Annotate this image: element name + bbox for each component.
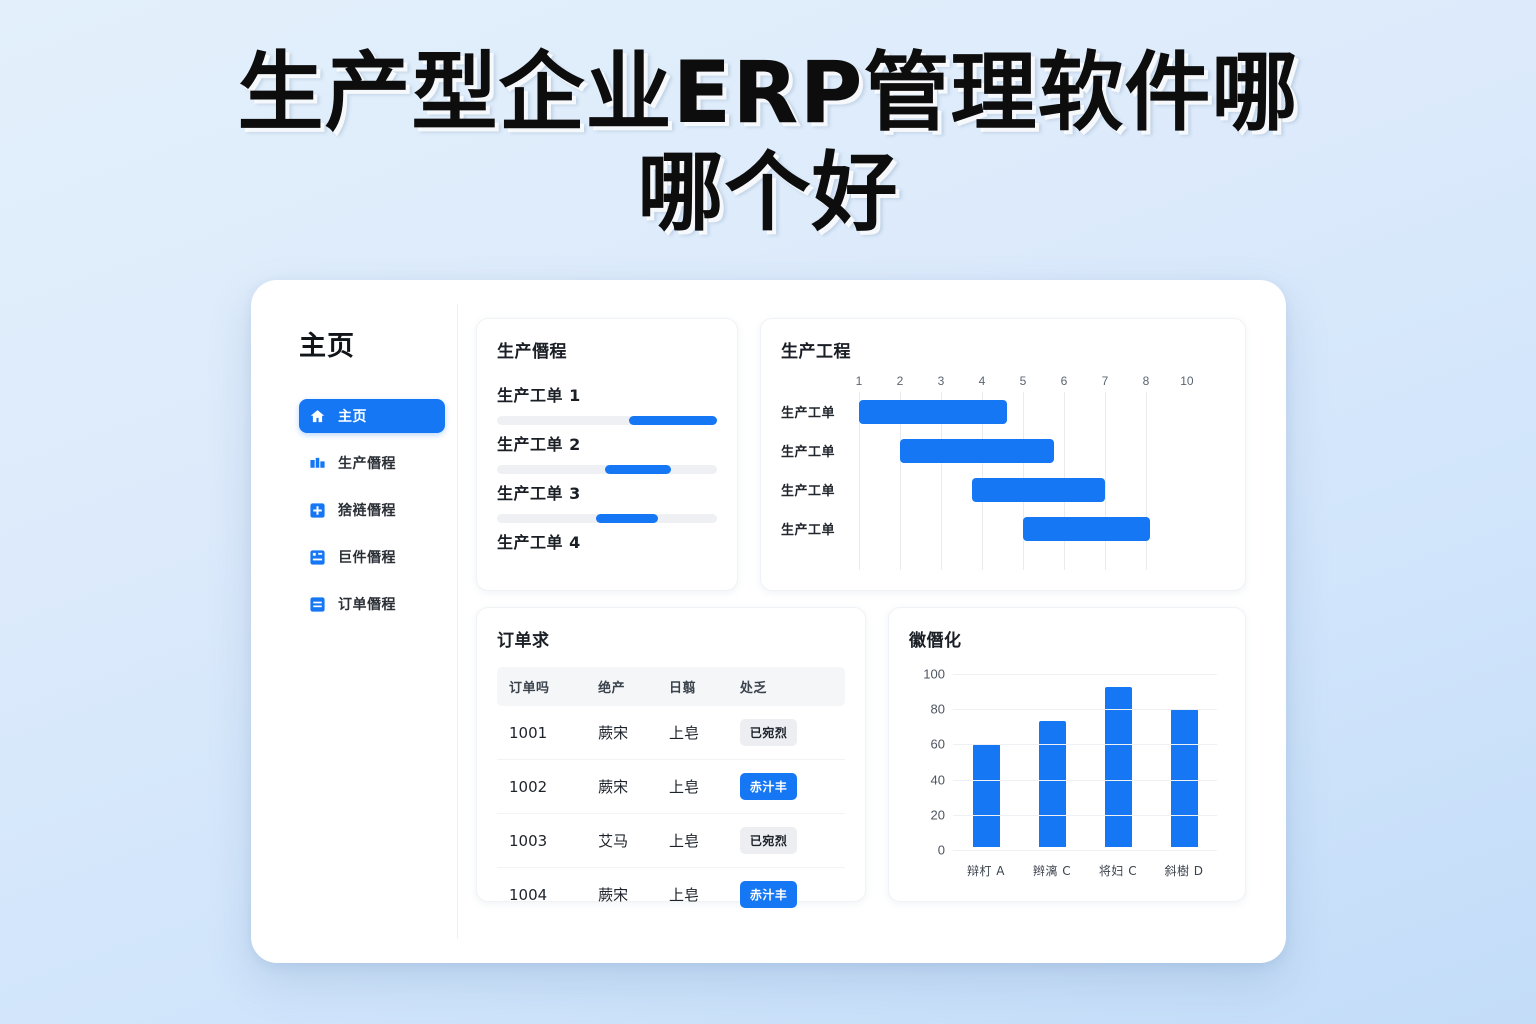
cell-order-id: 1001 [497, 706, 590, 760]
progress-list: 生产工单 1 生产工单 2 生产工单 3 [497, 382, 717, 553]
sidebar-item-add[interactable]: 猞裢僭程 [299, 493, 445, 527]
gantt-row-label: 生产工单 [781, 519, 859, 538]
progress-item: 生产工单 3 [497, 480, 717, 523]
gantt-row: 生产工单 [781, 470, 1225, 509]
gantt-tick-label: 1 [856, 374, 863, 388]
gantt-row: 生产工单 [781, 431, 1225, 470]
status-badge: 赤汁丰 [740, 773, 798, 800]
sidebar-item-orders[interactable]: 订单僭程 [299, 587, 445, 621]
gantt-tick-label: 3 [938, 374, 945, 388]
bar[interactable] [1039, 721, 1066, 847]
progress-label: 生产工单 4 [497, 529, 717, 553]
progress-label: 生产工单 2 [497, 431, 717, 455]
cell-customer: 蕨宋 [590, 706, 661, 760]
cell-date: 上皂 [661, 868, 732, 922]
gantt-row: 生产工单 [781, 509, 1225, 548]
gantt-rows: 生产工单生产工单生产工单生产工单 [781, 392, 1225, 570]
gantt-tick-label: 10 [1180, 374, 1193, 388]
gantt-chart: 1234567810 生产工单生产工单生产工单生产工单 [781, 374, 1225, 570]
dashboard-row-bottom: 订单求 订单吗 绝产 日翦 处乏 1001蕨宋上皂已宛烈1002蕨宋上皂赤汁丰1… [476, 607, 1246, 902]
column-header-order-id: 订单吗 [497, 667, 590, 706]
gantt-tick-label: 6 [1061, 374, 1068, 388]
progress-item: 生产工单 1 [497, 382, 717, 425]
sidebar-item-label: 巨件僭程 [338, 547, 396, 567]
bar-chart-y-label: 0 [938, 843, 945, 858]
table-header-row: 订单吗 绝产 日翦 处乏 [497, 667, 845, 706]
bar[interactable] [1105, 687, 1132, 847]
status-badge: 赤汁丰 [740, 881, 798, 908]
column-header-customer: 绝产 [590, 667, 661, 706]
sidebar: 主页 主页 [275, 304, 458, 939]
cell-date: 上皂 [661, 706, 732, 760]
cell-date: 上皂 [661, 760, 732, 814]
progress-label: 生产工单 3 [497, 480, 717, 504]
orders-table: 订单吗 绝产 日翦 处乏 1001蕨宋上皂已宛烈1002蕨宋上皂赤汁丰1003艾… [497, 667, 845, 921]
gantt-row-label: 生产工单 [781, 441, 859, 460]
bar[interactable] [973, 744, 1000, 847]
bar-chart-x-label: 辫漓 C [1019, 862, 1085, 879]
gantt-tick-label: 7 [1102, 374, 1109, 388]
gantt-tick-label: 4 [979, 374, 986, 388]
gantt-bar[interactable] [859, 400, 1007, 424]
table-row[interactable]: 1003艾马上皂已宛烈 [497, 814, 845, 868]
progress-track[interactable] [497, 465, 717, 474]
card-statistics: 徽僭化 020406080100 辩朾 A辫漓 C将妇 C斜樹 D [888, 607, 1246, 902]
cell-customer: 蕨宋 [590, 868, 661, 922]
sidebar-item-parts[interactable]: 巨件僭程 [299, 540, 445, 574]
gantt-row-label: 生产工单 [781, 480, 859, 499]
cell-order-id: 1002 [497, 760, 590, 814]
gantt-tick-label: 5 [1020, 374, 1027, 388]
card-production-progress: 生产僭程 生产工单 1 生产工单 2 [476, 318, 738, 591]
sidebar-item-label: 订单僭程 [338, 594, 396, 614]
status-badge: 已宛烈 [740, 827, 798, 854]
bar-chart-y-label: 20 [931, 807, 945, 822]
card-production-gantt: 生产工程 1234567810 生产工单生产工单生产工单生产工单 [760, 318, 1246, 591]
orders-table-body: 1001蕨宋上皂已宛烈1002蕨宋上皂赤汁丰1003艾马上皂已宛烈1004蕨宋上… [497, 706, 845, 921]
plus-square-icon [309, 502, 326, 519]
sidebar-item-label: 生产僭程 [338, 453, 396, 473]
bar-chart-plot: 020406080100 [953, 675, 1217, 851]
progress-item: 生产工单 4 [497, 529, 717, 553]
cell-status: 已宛烈 [732, 706, 845, 760]
column-header-date: 日翦 [661, 667, 732, 706]
gantt-tick-label: 2 [897, 374, 904, 388]
gantt-row: 生产工单 [781, 392, 1225, 431]
cell-status: 赤汁丰 [732, 868, 845, 922]
gantt-x-axis: 1234567810 [859, 374, 1225, 392]
bar-chart-x-label: 将妇 C [1085, 862, 1151, 879]
app-window-inner: 主页 主页 [275, 304, 1262, 939]
cell-customer: 蕨宋 [590, 760, 661, 814]
bar-chart-x-labels: 辩朾 A辫漓 C将妇 C斜樹 D [953, 862, 1217, 879]
cell-date: 上皂 [661, 814, 732, 868]
bar-chart-x-label: 斜樹 D [1151, 862, 1217, 879]
order-list-icon [309, 596, 326, 613]
card-title: 生产工程 [781, 337, 1225, 362]
table-row[interactable]: 1004蕨宋上皂赤汁丰 [497, 868, 845, 922]
bar-chart-x-label: 辩朾 A [953, 862, 1019, 879]
progress-fill [629, 416, 717, 425]
bar-chart-gridline: 0 [953, 850, 1217, 851]
gantt-row-track [859, 470, 1225, 509]
cell-order-id: 1003 [497, 814, 590, 868]
status-badge: 已宛烈 [740, 719, 798, 746]
page-title: 生产型企业ERP管理软件哪 哪个好 [218, 0, 1318, 244]
cell-status: 已宛烈 [732, 814, 845, 868]
bar-column [953, 675, 1019, 847]
dashboard-row-top: 生产僭程 生产工单 1 生产工单 2 [476, 318, 1246, 591]
sidebar-nav: 主页 生产僭程 [299, 399, 445, 621]
bar-chart-y-label: 100 [923, 667, 945, 682]
production-icon [309, 455, 326, 472]
sidebar-item-label: 猞裢僭程 [338, 500, 396, 520]
card-title: 徽僭化 [909, 626, 1225, 651]
table-row[interactable]: 1002蕨宋上皂赤汁丰 [497, 760, 845, 814]
cell-order-id: 1004 [497, 868, 590, 922]
gantt-row-track [859, 431, 1225, 470]
gantt-tick-label: 8 [1143, 374, 1150, 388]
page-title-line-1: 生产型企业ERP管理软件哪 [218, 44, 1318, 144]
bar-chart-series [953, 675, 1217, 851]
progress-fill [605, 465, 671, 474]
main-content: 生产僭程 生产工单 1 生产工单 2 [458, 304, 1262, 939]
gantt-row-label: 生产工单 [781, 402, 859, 421]
card-title: 订单求 [497, 626, 845, 651]
bar-column [1085, 675, 1151, 847]
bar-chart-gridline: 40 [953, 780, 1217, 781]
table-row[interactable]: 1001蕨宋上皂已宛烈 [497, 706, 845, 760]
sidebar-title: 主页 [299, 324, 445, 363]
progress-fill [596, 514, 658, 523]
bar-chart-gridline: 20 [953, 815, 1217, 816]
progress-item: 生产工单 2 [497, 431, 717, 474]
column-header-status: 处乏 [732, 667, 845, 706]
gantt-bar[interactable] [1023, 517, 1150, 541]
bar-column [1019, 675, 1085, 847]
bar-column [1151, 675, 1217, 847]
cell-status: 赤汁丰 [732, 760, 845, 814]
bar-chart-gridline: 60 [953, 744, 1217, 745]
bar-chart-gridline: 80 [953, 709, 1217, 710]
page-title-line-2: 哪个好 [218, 144, 1318, 244]
progress-track[interactable] [497, 514, 717, 523]
bar[interactable] [1171, 709, 1198, 847]
bar-chart: 020406080100 辩朾 A辫漓 C将妇 C斜樹 D [909, 669, 1225, 887]
sidebar-item-production[interactable]: 生产僭程 [299, 446, 445, 480]
app-window: 主页 主页 [251, 280, 1286, 963]
gantt-row-track [859, 509, 1225, 548]
progress-label: 生产工单 1 [497, 382, 717, 406]
parts-icon [309, 549, 326, 566]
sidebar-item-label: 主页 [338, 406, 367, 426]
bar-chart-gridline: 100 [953, 674, 1217, 675]
gantt-bar[interactable] [972, 478, 1105, 502]
bar-chart-y-label: 40 [931, 772, 945, 787]
bar-chart-y-label: 80 [931, 702, 945, 717]
home-icon [309, 408, 326, 425]
orders-table-head: 订单吗 绝产 日翦 处乏 [497, 667, 845, 706]
card-orders: 订单求 订单吗 绝产 日翦 处乏 1001蕨宋上皂已宛烈1002蕨宋上皂赤汁丰1… [476, 607, 866, 902]
cell-customer: 艾马 [590, 814, 661, 868]
gantt-row-track [859, 392, 1225, 431]
bar-chart-y-label: 60 [931, 737, 945, 752]
sidebar-item-home[interactable]: 主页 [299, 399, 445, 433]
progress-track[interactable] [497, 416, 717, 425]
card-title: 生产僭程 [497, 337, 717, 362]
gantt-bar[interactable] [900, 439, 1054, 463]
